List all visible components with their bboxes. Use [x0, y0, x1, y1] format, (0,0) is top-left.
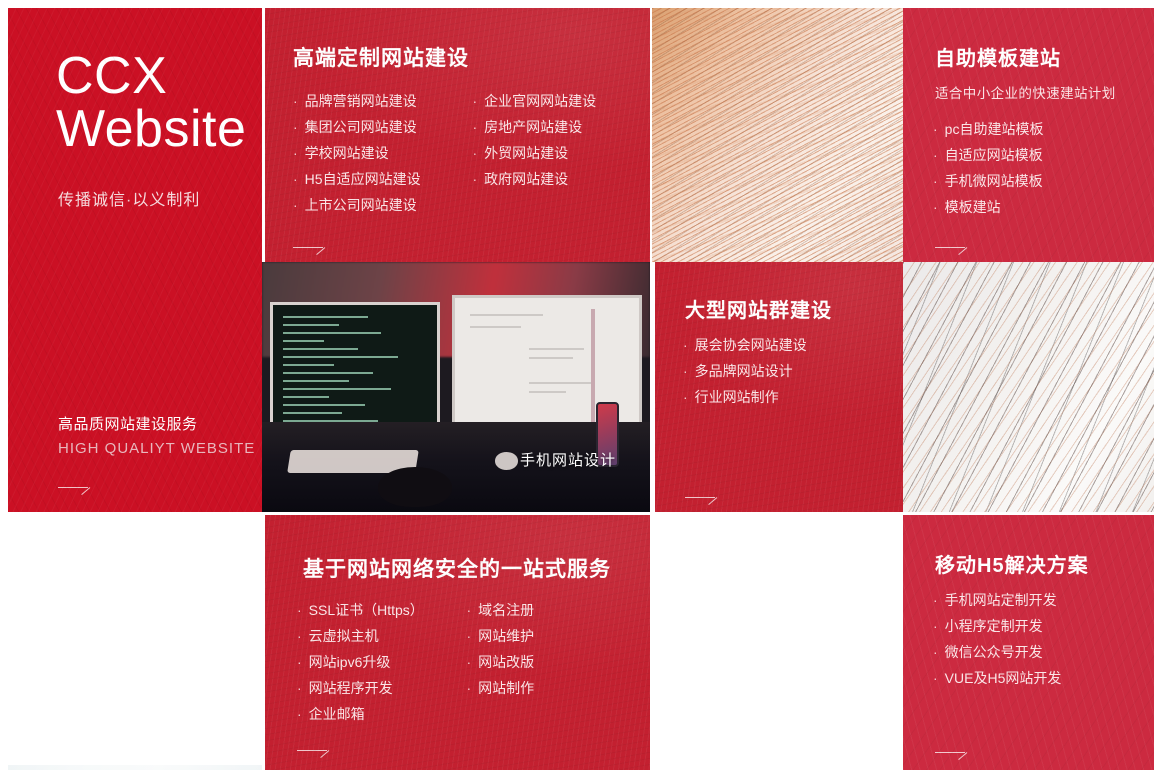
arrow-right-icon[interactable] [935, 743, 969, 755]
bullet-icon: · [297, 706, 302, 722]
bullet-icon: · [293, 93, 298, 109]
list-item[interactable]: ·H5自适应网站建设 [293, 166, 468, 192]
arrow-bar [58, 487, 88, 488]
arrow-bar [685, 497, 715, 498]
list-item[interactable]: ·行业网站制作 [683, 384, 807, 410]
brand-footer-cn: 高品质网站建设服务 [58, 413, 198, 434]
bullet-icon: · [293, 145, 298, 161]
list-item[interactable]: ·多品牌网站设计 [683, 358, 807, 384]
arrow-bar [297, 750, 327, 751]
brand-title-line1: CCX [56, 47, 167, 105]
headphones [378, 467, 452, 507]
card-custom-site[interactable]: 高端定制网站建设 ·品牌营销网站建设 ·集团公司网站建设 ·学校网站建设 ·H5… [265, 8, 650, 262]
list-item[interactable]: ·政府网站建设 [472, 166, 642, 192]
list-item[interactable]: ·集团公司网站建设 [293, 114, 468, 140]
mouse [495, 452, 518, 470]
list-item[interactable]: ·品牌营销网站建设 [293, 88, 468, 114]
list-item[interactable]: ·自适应网站模板 [933, 142, 1043, 168]
card-cluster-site[interactable]: 大型网站群建设 ·展会协会网站建设 ·多品牌网站设计 ·行业网站制作 [655, 262, 903, 512]
arrow-bar [935, 247, 965, 248]
card-template-site[interactable]: 自助模板建站 适合中小企业的快速建站计划 ·pc自助建站模板 ·自适应网站模板 … [903, 8, 1154, 262]
list-item[interactable]: ·网站改版 [466, 649, 616, 675]
bullet-icon: · [933, 199, 938, 215]
bullet-icon: · [472, 93, 477, 109]
list-item[interactable]: ·企业邮箱 [297, 701, 462, 727]
list-item[interactable]: ·企业官网网站建设 [472, 88, 642, 114]
bullet-icon: · [472, 171, 477, 187]
bullet-icon: · [297, 680, 302, 696]
bullet-icon: · [472, 119, 477, 135]
bullet-icon: · [933, 147, 938, 163]
arrow-bar [293, 247, 323, 248]
desk-monitors-photo: 手机网站设计 [262, 262, 650, 512]
list-item[interactable]: ·房地产网站建设 [472, 114, 642, 140]
photo-haze-overlay [8, 765, 262, 770]
list-item[interactable]: ·微信公众号开发 [933, 639, 1061, 665]
bullet-icon: · [466, 628, 471, 644]
list-item[interactable]: ·网站制作 [466, 675, 616, 701]
list-item[interactable]: ·模板建站 [933, 194, 1043, 220]
bullet-icon: · [297, 654, 302, 670]
list-item[interactable]: ·VUE及H5网站开发 [933, 665, 1061, 691]
brand-title-line2: Website [56, 103, 246, 156]
list-item[interactable]: ·SSL证书（Https） [297, 597, 462, 623]
arrow-tip [958, 752, 967, 760]
arrow-right-icon[interactable] [685, 488, 719, 500]
arrow-tip [81, 487, 90, 495]
arrow-tip [320, 750, 329, 758]
list-item[interactable]: ·外贸网站建设 [472, 140, 642, 166]
photo-caption: 手机网站设计 [520, 449, 616, 470]
bullet-icon: · [466, 654, 471, 670]
card-cluster-site-title: 大型网站群建设 [685, 294, 832, 323]
bullet-icon: · [466, 680, 471, 696]
cool-fibre-texture-photo [903, 262, 1154, 512]
arrow-right-icon[interactable] [293, 238, 327, 250]
brand-footer-en: HIGH QUALIYT WEBSITE [58, 440, 255, 457]
card-mobile-h5-bullets: ·手机网站定制开发 ·小程序定制开发 ·微信公众号开发 ·VUE及H5网站开发 [933, 587, 1061, 691]
bullet-column-1: ·品牌营销网站建设 ·集团公司网站建设 ·学校网站建设 ·H5自适应网站建设 ·… [293, 88, 468, 218]
bullet-column-2: ·域名注册 ·网站维护 ·网站改版 ·网站制作 [466, 597, 616, 701]
card-security-service-title: 基于网站网络安全的一站式服务 [303, 553, 611, 583]
bullet-column-2: ·企业官网网站建设 ·房地产网站建设 ·外贸网站建设 ·政府网站建设 [472, 88, 642, 192]
brand-panel: CCX Website 传播诚信·以义制利 高品质网站建设服务 HIGH QUA… [8, 8, 262, 512]
card-custom-site-bullets: ·品牌营销网站建设 ·集团公司网站建设 ·学校网站建设 ·H5自适应网站建设 ·… [293, 88, 642, 218]
monitor-left [270, 302, 441, 442]
arrow-tip [316, 247, 325, 255]
list-item[interactable]: ·域名注册 [466, 597, 616, 623]
bullet-icon: · [933, 173, 938, 189]
arrow-bar [935, 752, 965, 753]
list-item[interactable]: ·手机网站定制开发 [933, 587, 1061, 613]
promo-grid-page: CCX Website 传播诚信·以义制利 高品质网站建设服务 HIGH QUA… [0, 0, 1162, 770]
card-template-site-bullets: ·pc自助建站模板 ·自适应网站模板 ·手机微网站模板 ·模板建站 [933, 116, 1043, 220]
list-item[interactable]: ·云虚拟主机 [297, 623, 462, 649]
bullet-icon: · [683, 389, 688, 405]
bullet-icon: · [297, 602, 302, 618]
list-item[interactable]: ·小程序定制开发 [933, 613, 1061, 639]
card-security-service[interactable]: 基于网站网络安全的一站式服务 ·SSL证书（Https） ·云虚拟主机 ·网站i… [265, 515, 650, 770]
list-item[interactable]: ·上市公司网站建设 [293, 192, 468, 218]
bullet-icon: · [466, 602, 471, 618]
list-item[interactable]: ·学校网站建设 [293, 140, 468, 166]
list-item[interactable]: ·手机微网站模板 [933, 168, 1043, 194]
list-item[interactable]: ·网站维护 [466, 623, 616, 649]
brand-slogan: 传播诚信·以义制利 [58, 186, 200, 210]
list-item[interactable]: ·网站ipv6升级 [297, 649, 462, 675]
bullet-icon: · [293, 171, 298, 187]
bullet-icon: · [293, 197, 298, 213]
bullet-icon: · [293, 119, 298, 135]
bullet-icon: · [933, 618, 938, 634]
bullet-icon: · [933, 592, 938, 608]
card-security-service-bullets: ·SSL证书（Https） ·云虚拟主机 ·网站ipv6升级 ·网站程序开发 ·… [297, 597, 616, 727]
office-people-photo [8, 765, 262, 770]
bullet-icon: · [933, 644, 938, 660]
arrow-right-icon[interactable] [935, 238, 969, 250]
bullet-icon: · [933, 121, 938, 137]
arrow-right-icon[interactable] [297, 741, 331, 753]
card-custom-site-title: 高端定制网站建设 [293, 42, 469, 72]
brand-title: CCX Website [56, 50, 246, 156]
card-template-site-subtitle: 适合中小企业的快速建站计划 [935, 82, 1116, 102]
card-mobile-h5-title: 移动H5解决方案 [935, 549, 1089, 578]
bullet-icon: · [472, 145, 477, 161]
warm-fibre-texture-photo [652, 8, 903, 262]
list-item[interactable]: ·pc自助建站模板 [933, 116, 1043, 142]
bullet-icon: · [933, 670, 938, 686]
bullet-column-1: ·SSL证书（Https） ·云虚拟主机 ·网站ipv6升级 ·网站程序开发 ·… [297, 597, 462, 727]
arrow-right-icon[interactable] [58, 478, 92, 490]
arrow-tip [958, 247, 967, 255]
list-item[interactable]: ·网站程序开发 [297, 675, 462, 701]
bullet-icon: · [297, 628, 302, 644]
card-mobile-h5[interactable]: 移动H5解决方案 ·手机网站定制开发 ·小程序定制开发 ·微信公众号开发 ·VU… [903, 515, 1154, 770]
list-item[interactable]: ·展会协会网站建设 [683, 332, 807, 358]
arrow-tip [708, 497, 717, 505]
card-cluster-site-bullets: ·展会协会网站建设 ·多品牌网站设计 ·行业网站制作 [683, 332, 807, 410]
card-template-site-title: 自助模板建站 [935, 42, 1061, 71]
bullet-icon: · [683, 337, 688, 353]
bullet-icon: · [683, 363, 688, 379]
